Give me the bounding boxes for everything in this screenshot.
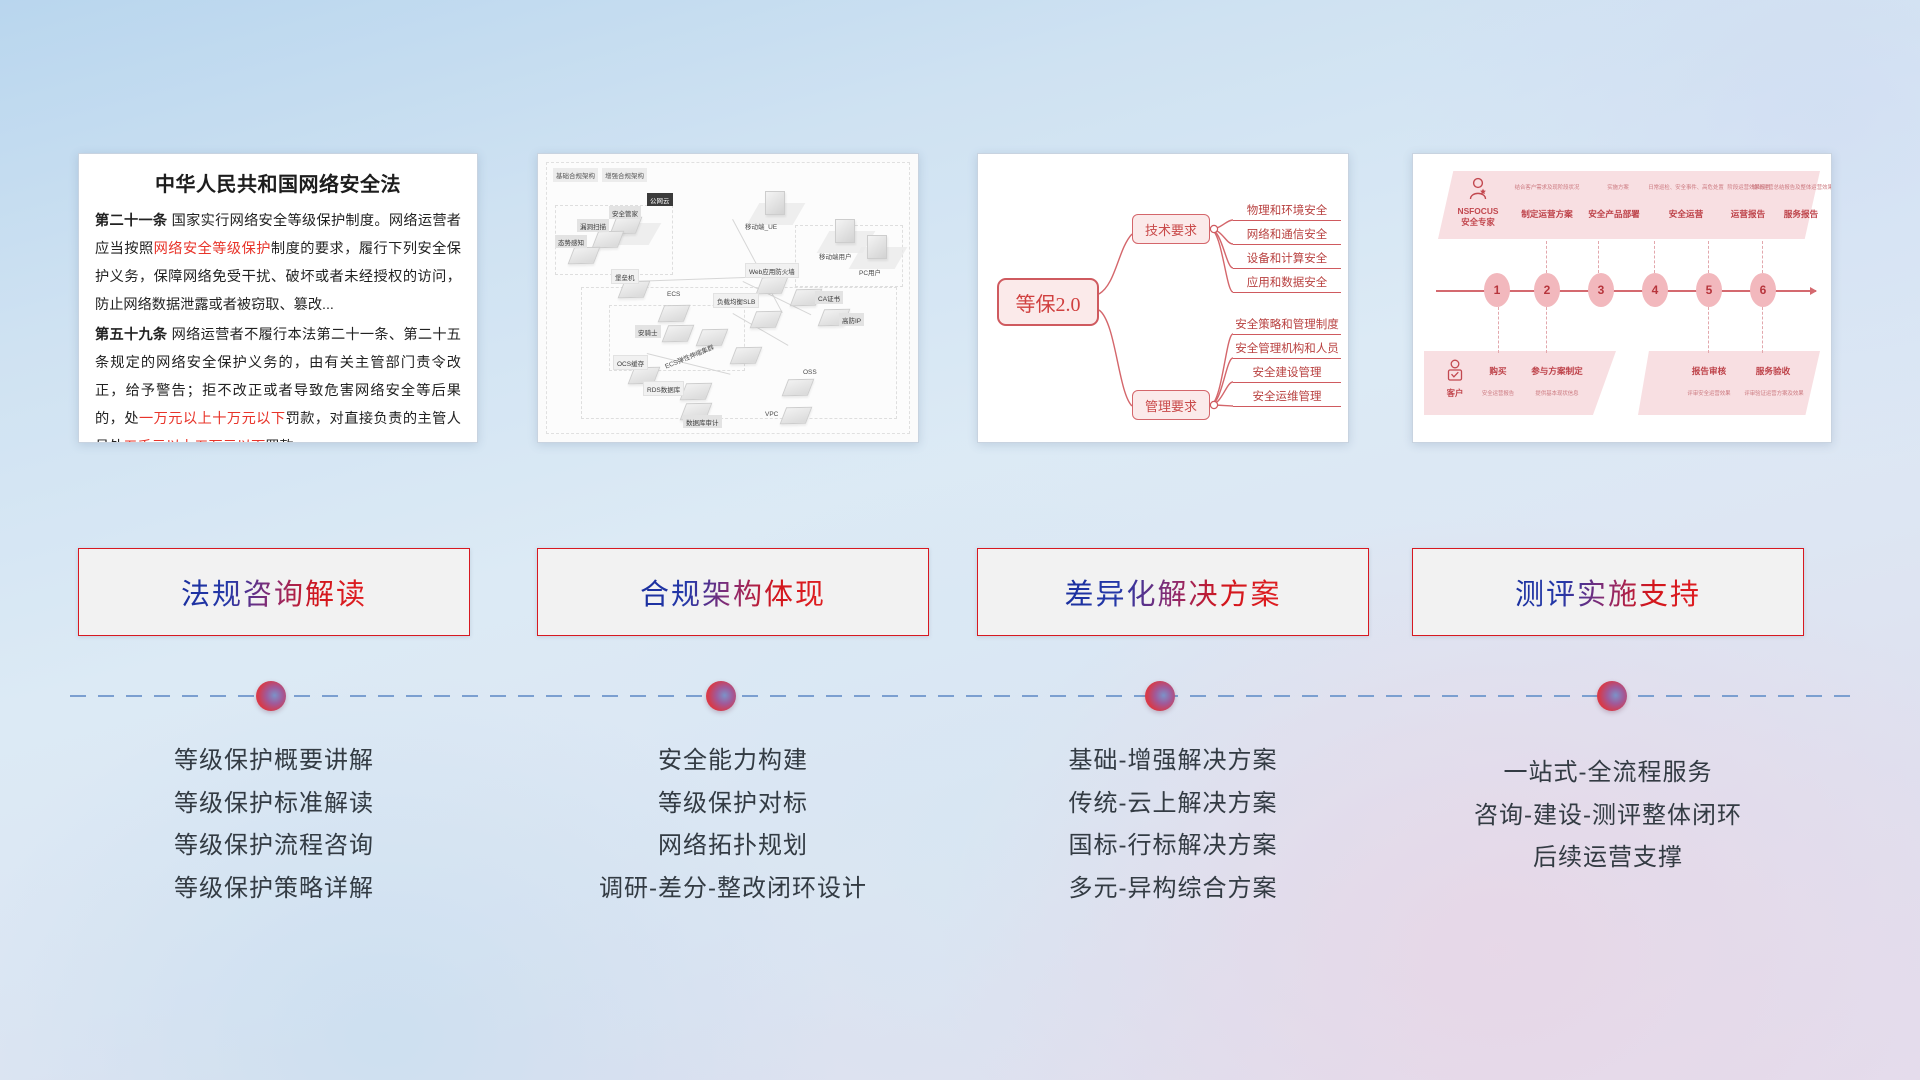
flow-step-3: 3 <box>1588 273 1614 307</box>
list-item: 等级保护标准解读 <box>78 783 470 826</box>
bottom-title-1: 购买 <box>1472 365 1524 377</box>
heading-box-compliance-architecture[interactable]: 合规架构体现 <box>537 548 929 636</box>
flow-dash-1 <box>1546 241 1547 273</box>
arch-node-slb: 负载均衡SLB <box>713 293 759 308</box>
mindmap-leaf-app-data: 应用和数据安全 <box>1233 270 1341 293</box>
timeline-dot-1[interactable] <box>256 681 286 711</box>
expert-avatar-icon <box>1467 177 1489 201</box>
law-article-21: 第二十一条 国家实行网络安全等级保护制度。网络运营者应当按照网络安全等级保护制度… <box>95 208 461 320</box>
arch-cube-pc-user <box>867 235 887 259</box>
mindmap-branch-technical: 技术要求 <box>1132 214 1210 244</box>
flow-dash-5 <box>1762 241 1763 273</box>
feature-list-evaluation-support: 一站式-全流程服务 咨询-建设-测评整体闭环 后续运营支撑 <box>1412 752 1804 880</box>
mindmap-leaf-network-comm: 网络和通信安全 <box>1233 222 1341 245</box>
arch-cube-vpc <box>780 407 813 424</box>
mindmap-leaf-physical-env: 物理和环境安全 <box>1233 198 1341 221</box>
feature-list-regulation-consulting: 等级保护概要讲解 等级保护标准解读 等级保护流程咨询 等级保护策略详解 <box>78 740 470 911</box>
arch-node-ocs: OCS缓存 <box>613 355 648 370</box>
mindmap-leaf-device-compute: 设备和计算安全 <box>1233 246 1341 269</box>
bottom-sub-4: 评审验证运营方案及效果 <box>1732 389 1816 397</box>
flow-dash-4 <box>1708 241 1709 273</box>
bottom-title-4: 服务验收 <box>1742 365 1804 377</box>
arch-node-oss: OSS <box>803 369 817 376</box>
arch-node-security-steward: 安全管家 <box>609 206 641 219</box>
arch-node-ca-cert: CA证书 <box>815 291 843 304</box>
timeline-dot-3[interactable] <box>1145 681 1175 711</box>
list-item: 调研-差分-整改闭环设计 <box>537 868 929 911</box>
heading-box-evaluation-support[interactable]: 测评实施支持 <box>1412 548 1804 636</box>
arch-node-mobile-user: 移动端用户 <box>819 251 852 261</box>
expert-persona: NSFOCUS 安全专家 <box>1446 177 1510 227</box>
expert-role-line2: 安全专家 <box>1446 217 1510 228</box>
arch-tag-enhanced: 增强合规架构 <box>602 168 647 182</box>
architecture-tag-bar: 基础合规架构 增强合规架构 <box>553 168 647 182</box>
arch-node-high-defense-ip: 高防IP <box>839 313 864 326</box>
arch-node-db-audit: 数据库审计 <box>683 415 722 428</box>
mindmap-root-node: 等保2.0 <box>997 278 1099 326</box>
bottom-title-2: 参与方案制定 <box>1518 365 1596 377</box>
list-item: 网络拓扑规划 <box>537 825 929 868</box>
heading-label-4: 测评实施支持 <box>1515 571 1701 613</box>
flow-step-6: 6 <box>1750 273 1776 307</box>
feature-list-compliance-architecture: 安全能力构建 等级保护对标 网络拓扑规划 调研-差分-整改闭环设计 <box>537 740 929 911</box>
arch-node-vuln-scan: 漏洞扫描 <box>577 219 609 232</box>
top-title-5: 服务报告 <box>1766 208 1832 220</box>
list-item: 咨询-建设-测评整体闭环 <box>1412 795 1804 838</box>
bottom-sub-1: 安全运营报告 <box>1472 389 1524 397</box>
heading-label-2: 合规架构体现 <box>640 571 826 613</box>
arch-cube-mobile-ue <box>765 191 785 215</box>
poster-stage: 中华人民共和国网络安全法 第二十一条 国家实行网络安全等级保护制度。网络运营者应… <box>0 0 1920 1080</box>
flow-dash-3 <box>1654 241 1655 273</box>
arch-node-agent: 安骑士 <box>635 325 661 338</box>
bottom-sub-2: 提供基本现状信息 <box>1518 389 1596 397</box>
list-item: 等级保护流程咨询 <box>78 825 470 868</box>
mindmap-leaf-org-personnel: 安全管理机构和人员 <box>1233 336 1341 359</box>
arch-node-situation-awareness: 态势感知 <box>555 235 587 248</box>
feature-list-differentiated-solution: 基础-增强解决方案 传统-云上解决方案 国标-行标解决方案 多元-异构综合方案 <box>977 740 1369 911</box>
arch-node-bastion: 堡垒机 <box>611 269 639 284</box>
arch-node-rds: RDS数据库 <box>643 381 684 396</box>
article-21-label: 第二十一条 <box>95 213 167 229</box>
article-59-highlight-1: 一万元以上十万元以下 <box>139 411 286 427</box>
arch-node-waf: Web应用防火墙 <box>745 263 799 278</box>
list-item: 传统-云上解决方案 <box>977 783 1369 826</box>
timeline-dot-2[interactable] <box>706 681 736 711</box>
flow-dash-2 <box>1598 241 1599 273</box>
list-item: 多元-异构综合方案 <box>977 868 1369 911</box>
service-flow-canvas: NSFOCUS 安全专家 结合客户需求及现阶段状况 制定运营方案 实施方案 安全… <box>1422 163 1822 433</box>
heading-label-1: 法规咨询解读 <box>181 571 367 613</box>
list-item: 国标-行标解决方案 <box>977 825 1369 868</box>
flow-dash-8 <box>1708 307 1709 353</box>
bottom-title-3: 报告审核 <box>1678 365 1740 377</box>
timeline-dashed-line <box>70 695 1850 697</box>
heading-label-3: 差异化解决方案 <box>1064 571 1281 613</box>
customer-band-right <box>1638 351 1820 415</box>
card-service-flow: NSFOCUS 安全专家 结合客户需求及现阶段状况 制定运营方案 实施方案 安全… <box>1412 153 1832 443</box>
list-item: 等级保护策略详解 <box>78 868 470 911</box>
flow-dash-6 <box>1498 307 1499 353</box>
arch-node-ecs: ECS <box>667 291 680 298</box>
top-sub-1: 结合客户需求及现阶段状况 <box>1504 183 1590 191</box>
law-title: 中华人民共和国网络安全法 <box>95 168 461 197</box>
law-article-59: 第五十九条 网络运营者不履行本法第二十一条、第二十五条规定的网络安全保护义务的，… <box>95 322 461 443</box>
flow-step-1: 1 <box>1484 273 1510 307</box>
card-cybersecurity-law: 中华人民共和国网络安全法 第二十一条 国家实行网络安全等级保护制度。网络运营者应… <box>78 153 478 443</box>
arch-cube-mobile-user <box>835 219 855 243</box>
list-item: 一站式-全流程服务 <box>1412 752 1804 795</box>
top-sub-5: 输出运营总结报告及整体运营效果 <box>1752 183 1832 191</box>
arch-node-vpc: VPC <box>765 411 778 418</box>
list-item: 后续运营支撑 <box>1412 837 1804 880</box>
mindmap-leaf-construction-mgmt: 安全建设管理 <box>1233 360 1341 383</box>
heading-box-differentiated-solution[interactable]: 差异化解决方案 <box>977 548 1369 636</box>
article-59-text-c: 罚款。 <box>265 439 308 443</box>
article-59-highlight-2: 五千元以上五万元以下 <box>123 439 265 443</box>
flow-step-4: 4 <box>1642 273 1668 307</box>
arch-node-pc-user: PC用户 <box>859 267 881 277</box>
flow-step-5: 5 <box>1696 273 1722 307</box>
list-item: 基础-增强解决方案 <box>977 740 1369 783</box>
flow-dash-7 <box>1546 307 1547 353</box>
flow-step-2: 2 <box>1534 273 1560 307</box>
arch-node-public-cloud: 公网云 <box>647 193 673 206</box>
heading-box-regulation-consulting[interactable]: 法规咨询解读 <box>78 548 470 636</box>
flow-dash-9 <box>1762 307 1763 353</box>
article-21-highlight: 网络安全等级保护 <box>154 241 271 257</box>
list-item: 等级保护对标 <box>537 783 929 826</box>
card-compliance-architecture: 基础合规架构 增强合规架构 公网云 安全管家 漏洞扫描 <box>537 153 919 443</box>
arch-node-mobile-ue: 移动端_UE <box>745 221 777 231</box>
mindmap-leaf-policy-system: 安全策略和管理制度 <box>1233 312 1341 335</box>
list-item: 等级保护概要讲解 <box>78 740 470 783</box>
list-item: 安全能力构建 <box>537 740 929 783</box>
mindmap-branch-management: 管理要求 <box>1132 390 1210 420</box>
expert-role-line1: NSFOCUS <box>1446 206 1510 217</box>
architecture-canvas: 基础合规架构 增强合规架构 公网云 安全管家 漏洞扫描 <box>546 162 910 434</box>
mindmap-leaf-operation-mgmt: 安全运维管理 <box>1233 384 1341 407</box>
customer-avatar-icon <box>1445 359 1465 383</box>
card-dengbao-mindmap: 等保2.0 技术要求 物理和环境安全 网络和通信安全 设备和计算安全 应用和数据… <box>977 153 1349 443</box>
timeline-dot-4[interactable] <box>1597 681 1627 711</box>
article-59-label: 第五十九条 <box>95 327 167 343</box>
arch-tag-basic: 基础合规架构 <box>553 168 598 182</box>
